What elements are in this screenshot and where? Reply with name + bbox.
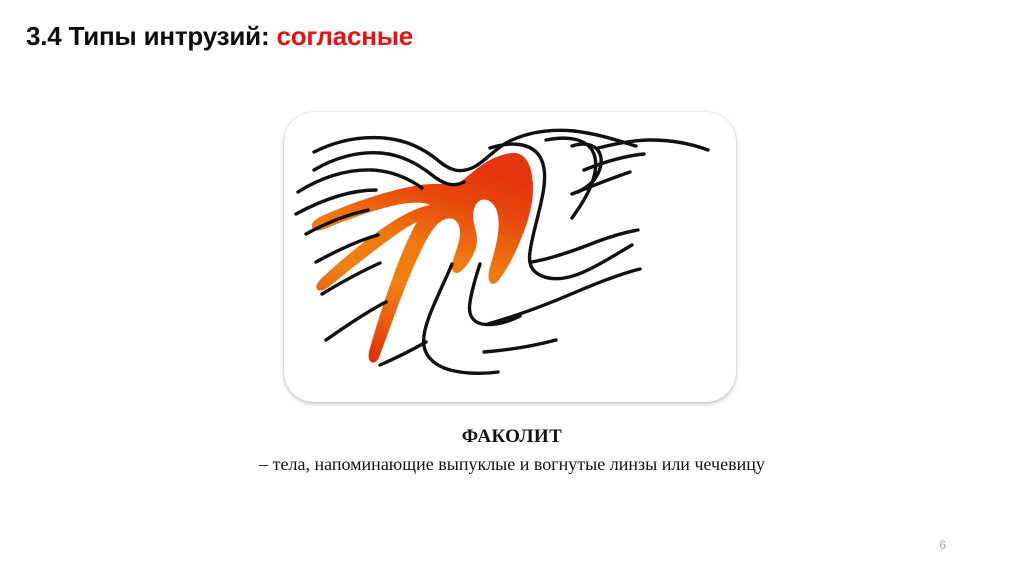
page-title-accent: согласные [276,21,413,51]
phacolith-illustration [284,112,736,402]
figure-caption: ФАКОЛИТ – тела, напоминающие выпуклые и … [0,425,1024,476]
page-number: 6 [939,538,946,552]
page-title: 3.4 Типы интрузий: согласные [26,20,413,52]
phacolith-figure-card [284,112,736,402]
caption-subtitle: – тела, напоминающие выпуклые и вогнутые… [0,452,1024,476]
caption-title: ФАКОЛИТ [0,425,1024,449]
magma-intrusion-body [312,153,533,363]
page-title-prefix: 3.4 Типы интрузий: [26,21,269,51]
